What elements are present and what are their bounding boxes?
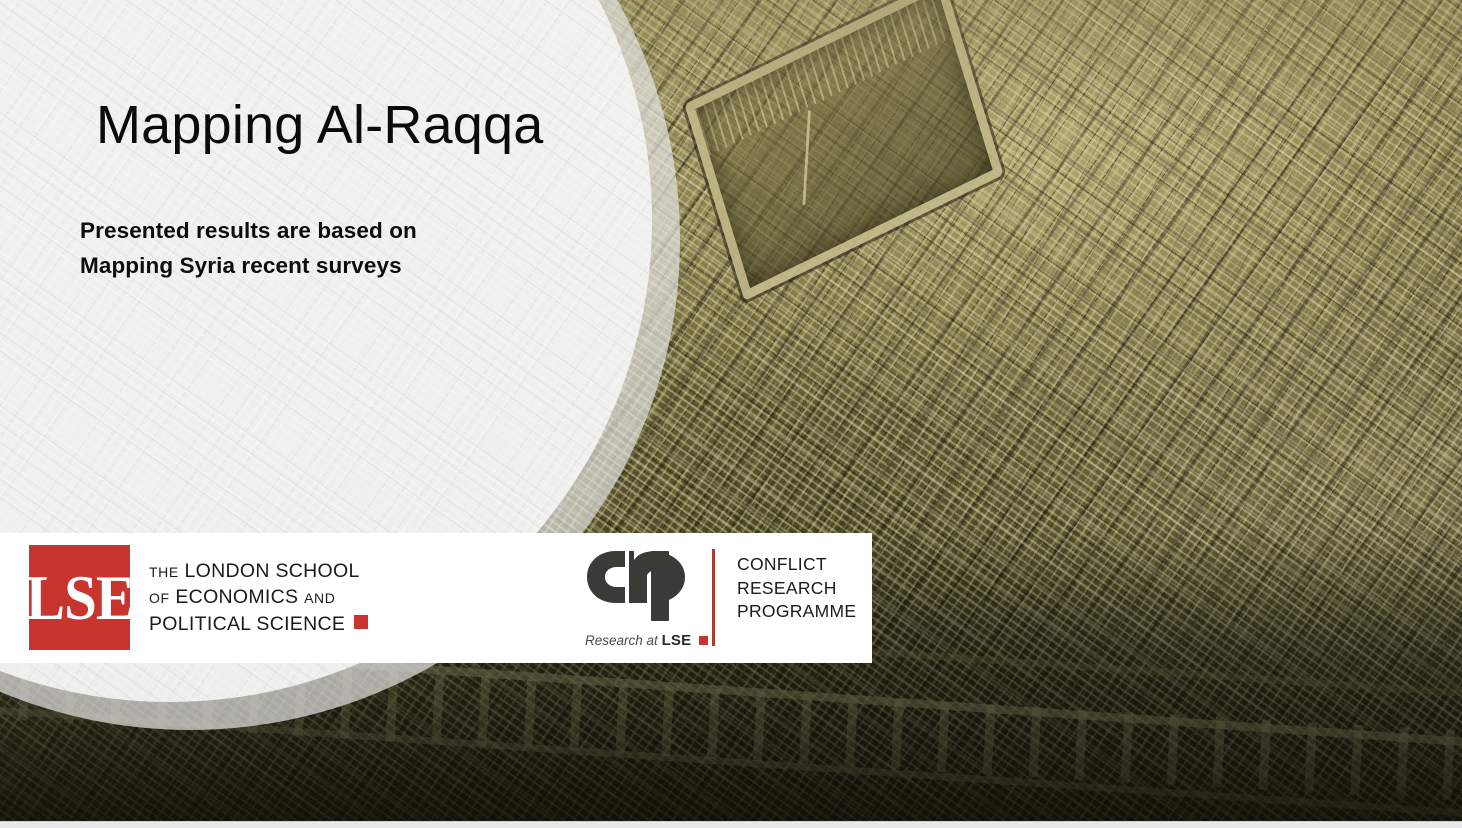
lse-mark-text: LSE [25,566,134,630]
crp-mark-column: Research at LSE [585,549,703,649]
lse-word-the: THE [149,564,179,580]
lse-line-1: THE LONDON SCHOOL [149,558,368,584]
lse-logo: LSE THE LONDON SCHOOL OF ECONOMICS AND P… [29,545,368,650]
lse-line-2: OF ECONOMICS AND [149,584,368,610]
crp-name: CONFLICT RESEARCH PROGRAMME [737,549,856,624]
crp-name-line-2: RESEARCH [737,577,856,601]
crp-name-line-1: CONFLICT [737,553,856,577]
crp-red-square-icon [699,636,708,645]
crp-tagline-prefix: Research at [585,633,658,648]
lse-mark-icon: LSE [29,545,130,650]
crp-logo: Research at LSE CONFLICT RESEARCH PROGRA… [585,549,856,649]
presentation-slide: Mapping Al-Raqqa Presented results are b… [0,0,1462,828]
lse-word-and: AND [304,590,335,606]
lse-red-square-icon [354,615,368,629]
lse-word-london-school: LONDON SCHOOL [185,560,360,582]
page-subtitle: Presented results are based on Mapping S… [80,214,417,284]
lse-word-of: OF [149,590,170,606]
subtitle-line-1: Presented results are based on [80,214,417,249]
page-title: Mapping Al-Raqqa [96,97,544,154]
lse-line-3: POLITICAL SCIENCE [149,611,368,637]
crp-tagline-brand: LSE [662,632,692,649]
crp-tagline: Research at LSE [585,632,703,649]
lse-word-political-science: POLITICAL SCIENCE [149,613,345,635]
viewer-bottom-strip [0,821,1462,828]
lse-wordmark: THE LONDON SCHOOL OF ECONOMICS AND POLIT… [149,545,368,650]
logo-band: LSE THE LONDON SCHOOL OF ECONOMICS AND P… [0,533,872,663]
lse-word-economics: ECONOMICS [175,586,298,608]
subtitle-line-2: Mapping Syria recent surveys [80,249,417,284]
crp-wordmark-icon [585,549,697,623]
crp-divider-rule [712,549,715,646]
crp-name-line-3: PROGRAMME [737,600,856,624]
